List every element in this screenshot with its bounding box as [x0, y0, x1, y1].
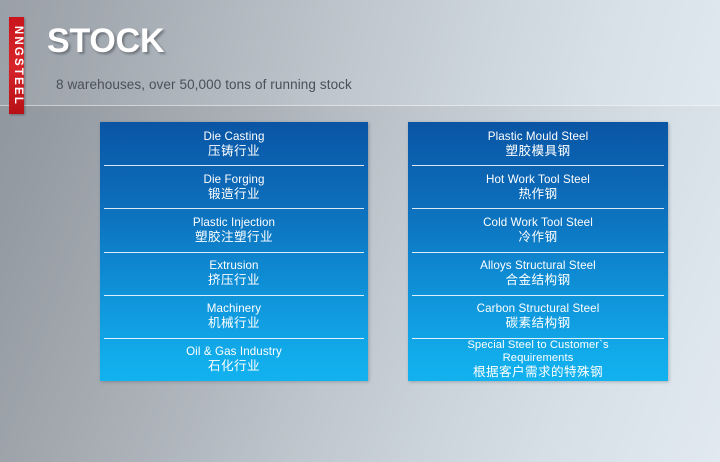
list-item-label-zh: 冷作钢	[519, 230, 558, 244]
list-item-label-zh: 石化行业	[208, 359, 260, 373]
list-item-label-en: Hot Work Tool Steel	[486, 173, 590, 186]
list-item-label-zh: 挤压行业	[208, 273, 260, 287]
slide-header: NNGSTEEL STOCK 8 warehouses, over 50,000…	[0, 0, 720, 108]
list-item-label-zh: 机械行业	[208, 316, 260, 330]
list-item[interactable]: Special Steel to Customer`s Requirements…	[408, 338, 668, 381]
list-item[interactable]: Hot Work Tool Steel 热作钢	[408, 165, 668, 208]
list-item-label-en: Machinery	[207, 302, 261, 315]
list-item-label-zh: 塑胶注塑行业	[195, 230, 273, 244]
list-item-label-en: Cold Work Tool Steel	[483, 216, 593, 229]
list-item[interactable]: Oil & Gas Industry 石化行业	[100, 338, 368, 381]
list-item[interactable]: Plastic Mould Steel 塑胶模具钢	[408, 122, 668, 165]
header-divider-rule	[0, 105, 720, 106]
list-item[interactable]: Die Casting 压铸行业	[100, 122, 368, 165]
page-subtitle: 8 warehouses, over 50,000 tons of runnin…	[56, 78, 352, 92]
nngsteel-logo: NNGSTEEL	[9, 17, 24, 114]
list-item-label-zh: 根据客户需求的特殊钢	[473, 365, 603, 379]
list-item[interactable]: Extrusion 挤压行业	[100, 252, 368, 295]
list-item-label-en: Carbon Structural Steel	[477, 302, 600, 315]
list-item-label-en: Oil & Gas Industry	[186, 345, 282, 358]
list-item-label-en: Plastic Mould Steel	[488, 130, 589, 143]
list-item-label-en: Extrusion	[209, 259, 258, 272]
list-item[interactable]: Carbon Structural Steel 碳素结构钢	[408, 295, 668, 338]
list-item-label-zh: 压铸行业	[208, 144, 260, 158]
list-item[interactable]: Cold Work Tool Steel 冷作钢	[408, 208, 668, 251]
list-item-label-en: Special Steel to Customer`s Requirements	[467, 339, 608, 364]
list-item[interactable]: Plastic Injection 塑胶注塑行业	[100, 208, 368, 251]
list-item-label-zh: 塑胶模具钢	[506, 144, 571, 158]
list-item-label-zh: 碳素结构钢	[506, 316, 571, 330]
steel-grades-panel: Plastic Mould Steel 塑胶模具钢 Hot Work Tool …	[408, 122, 668, 381]
list-item[interactable]: Alloys Structural Steel 合金结构钢	[408, 252, 668, 295]
page-title: STOCK	[47, 24, 164, 58]
list-item-label-zh: 合金结构钢	[506, 273, 571, 287]
list-item-label-en: Plastic Injection	[193, 216, 275, 229]
list-item[interactable]: Machinery 机械行业	[100, 295, 368, 338]
list-item[interactable]: Die Forging 锻造行业	[100, 165, 368, 208]
list-item-label-zh: 热作钢	[519, 187, 558, 201]
list-item-label-en: Die Forging	[203, 173, 264, 186]
logo-text: NNGSTEEL	[11, 25, 23, 105]
list-item-label-zh: 锻造行业	[208, 187, 260, 201]
list-item-label-en: Die Casting	[203, 130, 264, 143]
industries-panel: Die Casting 压铸行业 Die Forging 锻造行业 Plasti…	[100, 122, 368, 381]
list-item-label-en: Alloys Structural Steel	[480, 259, 596, 272]
slide: NNGSTEEL STOCK 8 warehouses, over 50,000…	[0, 0, 720, 462]
